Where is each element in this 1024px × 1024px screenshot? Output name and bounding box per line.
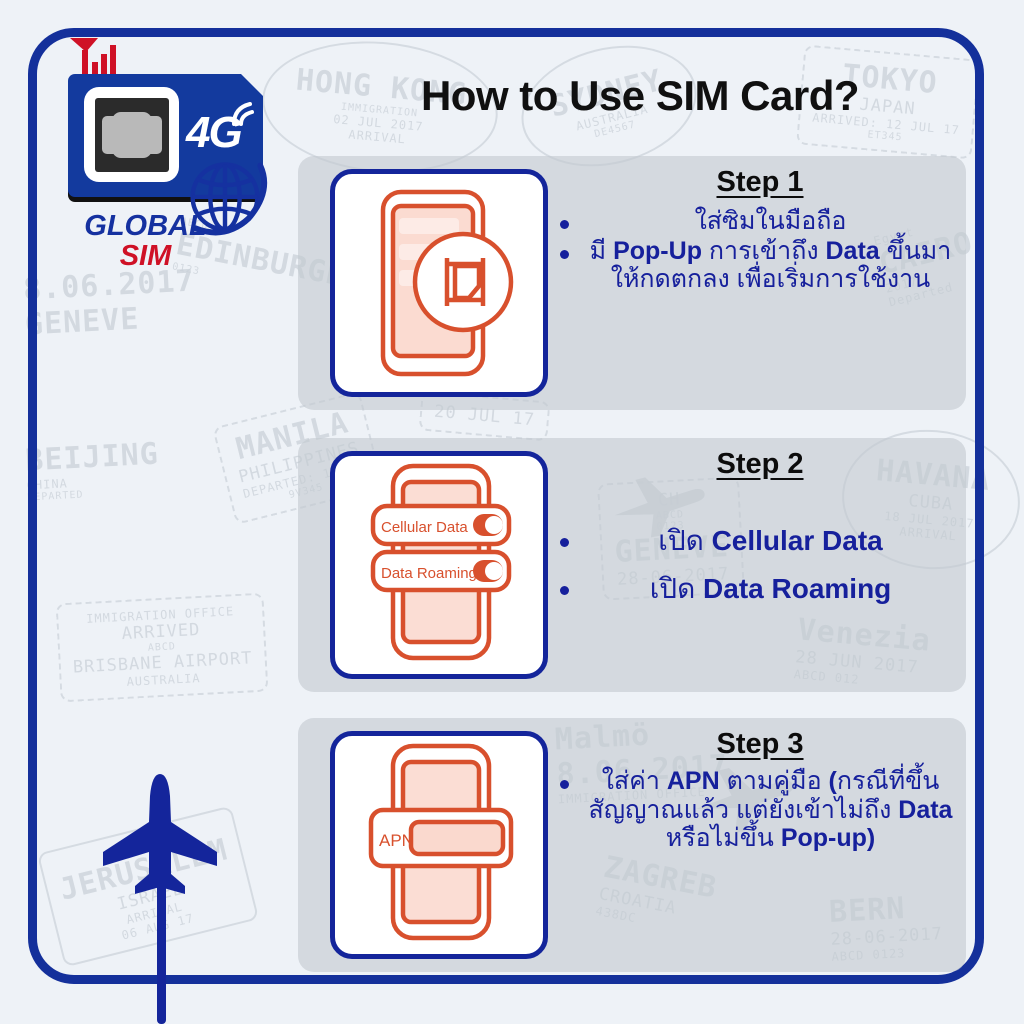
stamp-line: CHINA	[26, 472, 160, 493]
stamp-line: ARRIVED	[71, 617, 252, 646]
stamp-line: BRISBANE AIRPORT	[72, 648, 253, 677]
stamp-beijing: BEIJING CHINA DEPARTED	[25, 437, 161, 504]
step-2-text: Step 2 เปิด Cellular Data เปิด Data Roam…	[560, 444, 960, 621]
toggle-label-data-roaming: Data Roaming	[381, 565, 477, 582]
stamp-line: ABCD	[72, 637, 252, 657]
step-1-bullets: ใส่ซิมในมือถือ มี Pop-Up การเข้าถึง Data…	[560, 207, 960, 294]
stamp-line: GENEVE	[24, 299, 197, 343]
stamp-line: ARRIVAL	[291, 122, 463, 151]
stamp-geneve: 8.06.2017 GENEVE	[22, 264, 197, 343]
list-item: ใส่ค่า APN ตามคู่มือ (กรณีที่ขึ้นสัญญาณแ…	[560, 767, 960, 853]
toggle-label-cellular-data: Cellular Data	[381, 519, 468, 536]
bullet-dot-icon	[560, 250, 569, 259]
bullet-dot-icon	[560, 780, 569, 789]
page-title: How to Use SIM Card?	[330, 72, 950, 120]
phone-toggles-icon: Cellular Data Data Roaming	[330, 451, 548, 679]
step-1-label: Step 1	[560, 166, 960, 199]
infographic-canvas: HONG KONG Immigration 02 JUL 2017 ARRIVA…	[0, 0, 1024, 1024]
brand-sim: SIM	[58, 242, 233, 272]
bullet-text: ใส่ซิมในมือถือ	[581, 207, 960, 236]
phone-insert-sim-icon	[330, 169, 548, 397]
sim-chip-icon	[84, 87, 179, 182]
step-row-1: Step 1 ใส่ซิมในมือถือ มี Pop-Up การเข้าถ…	[298, 156, 966, 410]
bullet-text: ใส่ค่า APN ตามคู่มือ (กรณีที่ขึ้นสัญญาณแ…	[581, 767, 960, 853]
step-3-label: Step 3	[560, 728, 960, 761]
bullet-dot-icon	[560, 538, 569, 547]
dashed-trail-icon	[157, 880, 166, 1024]
list-item: เปิด Cellular Data	[560, 525, 960, 557]
brand-text: GLOBAL SIM	[58, 212, 233, 271]
bullet-dot-icon	[560, 586, 569, 595]
step-2-label: Step 2	[560, 448, 960, 481]
stamp-brisbane: IMMIGRATION OFFICE ARRIVED ABCD BRISBANE…	[56, 593, 269, 703]
bullet-text: เปิด Data Roaming	[581, 573, 960, 605]
bullet-dot-icon	[560, 220, 569, 229]
brand-global: GLOBAL	[58, 212, 233, 242]
step-2-bullets: เปิด Cellular Data เปิด Data Roaming	[560, 525, 960, 605]
step-3-text: Step 3 ใส่ค่า APN ตามคู่มือ (กรณีที่ขึ้น…	[560, 724, 960, 854]
list-item: ใส่ซิมในมือถือ	[560, 207, 960, 236]
stamp-line: BEIJING	[25, 437, 160, 479]
bullet-text: มี Pop-Up การเข้าถึง Data ขึ้นมาให้กดตกล…	[581, 237, 960, 294]
stamp-line: IMMIGRATION OFFICE	[70, 603, 250, 626]
apn-field-label: APN	[379, 831, 414, 850]
stamp-line: DEPARTED	[27, 485, 161, 503]
stamp-line: AUSTRALIA	[73, 668, 253, 691]
list-item: เปิด Data Roaming	[560, 573, 960, 605]
step-row-3: APN Step 3 ใส่ค่า APN ตามคู่มือ (กรณีที่…	[298, 718, 966, 972]
step-1-text: Step 1 ใส่ซิมในมือถือ มี Pop-Up การเข้าถ…	[560, 162, 960, 295]
stamp-line: ET345	[811, 124, 959, 148]
wifi-waves-icon	[228, 96, 262, 126]
step-3-bullets: ใส่ค่า APN ตามคู่มือ (กรณีที่ขึ้นสัญญาณแ…	[560, 767, 960, 853]
bullet-text: เปิด Cellular Data	[581, 525, 960, 557]
phone-apn-field-icon: APN	[330, 731, 548, 959]
global-sim-logo: 4G GLOBAL SIM	[58, 36, 288, 271]
step-row-2: Cellular Data Data Roaming Step 2 เปิด C…	[298, 438, 966, 692]
list-item: มี Pop-Up การเข้าถึง Data ขึ้นมาให้กดตกล…	[560, 237, 960, 294]
